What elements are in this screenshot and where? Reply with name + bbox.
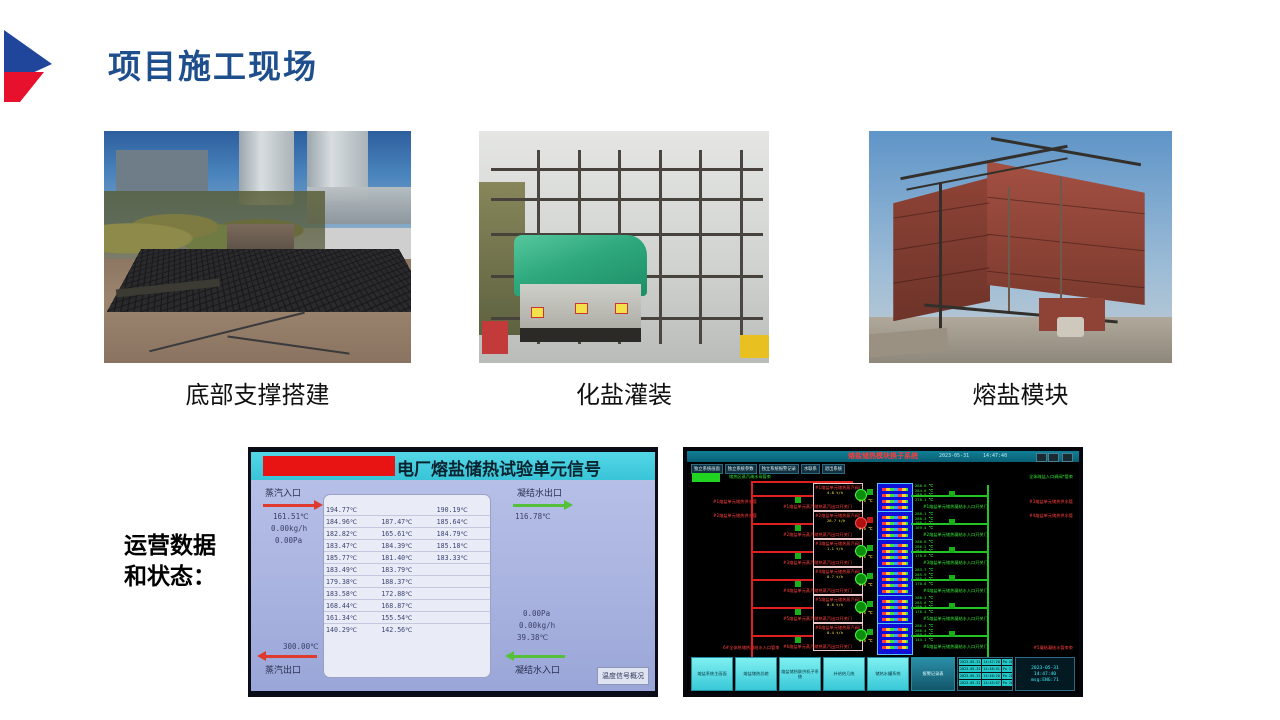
module-outlet-label: #5熔盐单元储热凝结水入口开关门 (923, 616, 988, 622)
module-valve-label: #6熔盐单元蒸汽储热蒸汽出口开关门 (783, 644, 852, 650)
temperature-cell: 179.38℃ (324, 576, 379, 588)
module-inlet-label: #3熔盐单元储热蒸汽阀门 (815, 541, 863, 547)
temperature-cell (435, 564, 490, 576)
alarm-cell: 2023-05-31 (959, 680, 982, 687)
condensate-valve-icon[interactable] (949, 631, 955, 637)
condensate-branch-line (911, 579, 987, 581)
scada-screen: 熔盐储热模块换子系统 2023-05-31 14:47:40 独立系统画面独立系… (687, 451, 1079, 693)
alarm-record-button[interactable]: 报警记录表 (911, 657, 955, 691)
module-inlet-label: #5熔盐单元储热蒸汽阀门 (815, 597, 863, 603)
module-outlet-label: #3熔盐单元储热凝结水入口开关门 (923, 560, 988, 566)
condensate-outlet-arrow (513, 504, 565, 507)
clock-time: 14:47:40 (1034, 672, 1056, 677)
scaffold-rail-1 (491, 168, 764, 171)
page-title: 项目施工现场 (108, 40, 318, 88)
hmi-signal-panel: 电厂熔盐储热试验单元信号 蒸汽入口 161.51℃ 0.00kg/h 0.00P… (248, 447, 658, 697)
module-valve-label: #3熔盐单元蒸汽储热蒸汽出口开关门 (783, 560, 852, 566)
temperature-cell: 185.18℃ (435, 540, 490, 552)
alarm-row[interactable]: 2023-05-3114:46:41Pa 1 Pt 1HL2940CL001关联… (959, 666, 1014, 673)
photo-salt-melting-filling (479, 131, 769, 363)
right-note-1: #3熔盐单元储热供水管 (1029, 499, 1073, 505)
rebar-mesh (106, 249, 411, 312)
module-valve-label: #1熔盐单元蒸汽储热蒸汽出口开关门 (783, 504, 852, 510)
toolbar-button-3[interactable]: 补给热几统 (823, 657, 865, 691)
module-frame (813, 539, 863, 567)
temperature-cell: 184.79℃ (435, 528, 490, 540)
module-frame (813, 483, 863, 511)
steam-header-main (751, 481, 753, 657)
warning-sign-1 (531, 307, 544, 318)
scaffold-post-5 (699, 150, 702, 345)
temperature-cell: 190.19℃ (435, 504, 490, 516)
table-row: 184.96℃187.47℃185.64℃ (324, 516, 490, 528)
temperature-cell (435, 624, 490, 636)
condensate-outlet-temp: 116.78℃ (515, 512, 551, 521)
clock-date: 2023-05-31 (1031, 666, 1059, 671)
module-temps: 283.7 ℃285.9 ℃285.4 ℃170.0 ℃ (915, 568, 933, 587)
module-frame (813, 511, 863, 539)
module-temps: 288.0 ℃286.2 ℃285.9 ℃178.6 ℃ (915, 540, 933, 559)
heat-exchanger-icon (877, 539, 913, 571)
module-valve-icon[interactable] (867, 517, 873, 523)
module-valve-label: #5熔盐单元蒸汽储热蒸汽出口开关门 (783, 616, 852, 622)
temperature-cell (435, 576, 490, 588)
module-valve-icon[interactable] (867, 601, 873, 607)
toolbar-button-group[interactable]: 熔盐系统主画面熔盐储热总貌熔盐储热联供机子系统补给热几统储热水罐系统 (691, 657, 909, 689)
alarm-cell: 2023-05-31 (959, 666, 982, 673)
alarm-log-grid: 2023-05-3114:47:20Pa 2#1 Pt 1HL2940CL002… (958, 658, 1013, 687)
table-row: 183.49℃183.79℃ (324, 564, 490, 576)
minimize-icon[interactable] (1036, 453, 1047, 462)
module-outlet-valve-icon[interactable] (795, 609, 801, 615)
scada-header-date: 2023-05-31 (939, 453, 969, 459)
heat-exchanger-icon (877, 623, 913, 655)
module-inlet-label: #6熔盐单元储热蒸汽阀门 (815, 625, 863, 631)
alarm-cell: Pa 1 Pt 1 (1001, 666, 1013, 673)
brand-logo (0, 28, 56, 104)
menu-item-2[interactable]: 独立系统报警记录 (759, 464, 799, 474)
steam-branch-line (751, 551, 813, 553)
temperature-cell: 161.34℃ (324, 612, 379, 624)
temperature-cell: 183.49℃ (324, 564, 379, 576)
steam-inlet-arrow (263, 504, 315, 507)
temperature-cell: 184.39℃ (379, 540, 434, 552)
condensate-branch-line (911, 607, 987, 609)
toolbar-button-0[interactable]: 熔盐系统主画面 (691, 657, 733, 691)
module-pump-icon[interactable] (855, 629, 867, 641)
module-outlet-valve-icon[interactable] (795, 581, 801, 587)
steam-branch-line (751, 635, 813, 637)
condensate-valve-icon[interactable] (949, 547, 955, 553)
alarm-cell: 14:47:20 (982, 659, 1001, 666)
vertical-pipe-1 (939, 182, 942, 335)
module-outlet-label: #6熔盐单元储热凝结水入口开关门 (923, 644, 988, 650)
module-flow: 1.1 t/h (827, 547, 843, 552)
alarm-cell: 14:45:07 (982, 680, 1001, 687)
heat-exchanger-icon (877, 595, 913, 627)
table-row: 179.38℃188.37℃ (324, 576, 490, 588)
condensate-header-main (987, 485, 989, 657)
steam-branch-line (751, 607, 813, 609)
menu-item-4[interactable]: 退出系统 (822, 464, 845, 474)
table-row: 183.47℃184.39℃185.18℃ (324, 540, 490, 552)
temperature-cell: 185.77℃ (324, 552, 379, 564)
scaffold-post-4 (659, 150, 662, 345)
scaffold-post-6 (740, 150, 743, 345)
maximize-icon[interactable] (1048, 453, 1059, 462)
temperature-cell: 183.79℃ (379, 564, 434, 576)
module-temp: 0.0 ℃ (859, 583, 872, 588)
condensate-inlet-pressure: 0.00Pa (523, 609, 550, 618)
logo-red-triangle (4, 72, 44, 102)
operating-data-label-line2: 和状态： (100, 561, 240, 592)
close-icon[interactable] (1062, 453, 1073, 462)
module-flow: 0.0 t/h (827, 603, 843, 608)
alarm-cell: Pa 2#1 Pt 1 (1001, 680, 1013, 687)
alarm-log-body: 2023-05-3114:47:20Pa 2#1 Pt 1HL2940CL002… (959, 659, 1014, 687)
module-temps: 286.4 ℃286.4 ℃280.4 ℃144.1 ℃ (915, 624, 933, 643)
module-temps: 288.0 ℃284.0 ℃288.5 ℃278.1 ℃ (915, 484, 933, 503)
alarm-row[interactable]: 2023-05-3114:46:20Pa 2#1 Pt 1HL2940CL005… (959, 673, 1014, 680)
alarm-cell: Pa 2#1 Pt 1 (1001, 673, 1013, 680)
steam-inlet-flow: 0.00kg/h (271, 524, 307, 533)
alarm-cell: 14:46:41 (982, 666, 1001, 673)
condensate-branch-line (911, 551, 987, 553)
module-pump-icon[interactable] (855, 601, 867, 613)
temperature-cell (435, 588, 490, 600)
scada-toolbar[interactable]: 熔盐系统主画面熔盐储热总貌熔盐储热联供机子系统补给热几统储热水罐系统 报警记录表… (691, 657, 1075, 689)
condensate-branch-line (911, 523, 987, 525)
module-inlet-label: #1熔盐单元储热蒸汽阀门 (815, 485, 863, 491)
warning-sign-2 (575, 303, 588, 314)
hmi-title-bar: 电厂熔盐储热试验单元信号 (251, 452, 655, 480)
temperature-cell: 181.40℃ (379, 552, 434, 564)
steam-inlet-label: 蒸汽入口 (265, 486, 301, 499)
condensate-valve-icon[interactable] (949, 519, 955, 525)
photo-construction-foundation (104, 131, 411, 363)
temperature-cell: 182.82℃ (324, 528, 379, 540)
module-inlet-label: #2熔盐单元储热蒸汽阀门 (815, 513, 863, 519)
photo-molten-salt-module (869, 131, 1172, 363)
warning-sign-3 (615, 303, 628, 314)
clock-panel: 2023-05-31 14:47:40 msg:ENG:71 (1015, 657, 1075, 691)
pump-unit (1057, 317, 1084, 338)
hmi-title: 电厂熔盐储热试验单元信号 (397, 455, 601, 480)
temperature-cell: 183.47℃ (324, 540, 379, 552)
temperature-cell: 184.96℃ (324, 516, 379, 528)
heat-exchanger-icon (877, 567, 913, 599)
scada-module-panel: 熔盐储热模块换子系统 2023-05-31 14:47:40 独立系统画面独立系… (683, 447, 1083, 697)
table-row: 168.44℃168.87℃ (324, 600, 490, 612)
steam-outlet-label: 蒸汽出口 (265, 663, 301, 676)
plant-building (116, 150, 208, 192)
operating-data-label-line1: 运营数据 (100, 530, 240, 561)
temperature-cell: 168.44℃ (324, 600, 379, 612)
toolbar-button-2[interactable]: 熔盐储热联供机子系统 (779, 657, 821, 691)
module-pump-icon[interactable] (855, 573, 867, 585)
condensate-inlet-arrow (513, 655, 565, 658)
dark-cavity (520, 328, 642, 342)
condensate-valve-icon[interactable] (949, 491, 955, 497)
module-valve-icon[interactable] (867, 573, 873, 579)
module-valve-icon[interactable] (867, 629, 873, 635)
module-flow: 4.8 t/h (827, 491, 843, 496)
condensate-valve-icon[interactable] (949, 575, 955, 581)
bottom-right-note: #5凝结凝结水管束束 (1033, 645, 1073, 651)
table-row: 183.58℃172.88℃ (324, 588, 490, 600)
temperature-overview-button[interactable]: 温度信号概况 (597, 667, 649, 685)
temperature-cell (435, 600, 490, 612)
condensate-valve-icon[interactable] (949, 603, 955, 609)
module-temp: 0.0 ℃ (859, 639, 872, 644)
alarm-row[interactable]: 2023-05-3114:47:20Pa 2#1 Pt 1HL2940CL002… (959, 659, 1014, 666)
module-temps: 288.1 ℃288.3 ℃166.1 ℃169.4 ℃ (915, 512, 933, 531)
steam-outlet-arrow (265, 655, 317, 658)
module-temp: 0.0 ℃ (859, 611, 872, 616)
triangle-logo-svg (0, 28, 56, 104)
module-pump-icon[interactable] (855, 517, 867, 529)
temperature-cell (435, 612, 490, 624)
alarm-cell: 2023-05-31 (959, 659, 982, 666)
condensate-inlet-label: 凝结水入口 (515, 663, 560, 676)
condensate-inlet-temp: 39.38℃ (517, 633, 548, 642)
temperature-cell: 155.54℃ (379, 612, 434, 624)
alarm-cell: 2023-05-31 (959, 673, 982, 680)
module-outlet-valve-icon[interactable] (795, 497, 801, 503)
module-temp: 0.0 ℃ (859, 527, 872, 532)
heat-exchanger-icon (877, 483, 913, 515)
temperature-cell: 172.88℃ (379, 588, 434, 600)
table-row: 182.82℃165.61℃184.79℃ (324, 528, 490, 540)
hmi-screen: 电厂熔盐储热试验单元信号 蒸汽入口 161.51℃ 0.00kg/h 0.00P… (251, 452, 655, 691)
yellow-equipment (740, 335, 769, 358)
temperature-table-grid: 194.77℃190.19℃184.96℃187.47℃185.64℃182.8… (324, 504, 490, 635)
module-outlet-valve-icon[interactable] (795, 553, 801, 559)
photo-caption-3: 熔盐模块 (869, 375, 1172, 410)
table-row: 140.29℃142.56℃ (324, 624, 490, 636)
scaffold-rail-2 (491, 198, 764, 201)
temperature-cell: 140.29℃ (324, 624, 379, 636)
temperature-cell: 168.87℃ (379, 600, 434, 612)
scada-title: 熔盐储热模块换子系统 (848, 451, 918, 461)
module-flow: 0.4 t/h (827, 631, 843, 636)
module-temp: 0.0 ℃ (859, 499, 872, 504)
module-temps: 288.3 ℃285.6 ℃286.3 ℃178.4 ℃ (915, 596, 933, 615)
temperature-cell: 183.58℃ (324, 588, 379, 600)
worker-region (482, 321, 508, 353)
menu-item-3[interactable]: 水联系 (801, 464, 820, 474)
condensate-outlet-label: 凝结水出口 (517, 486, 562, 499)
steam-inlet-pressure: 0.00Pa (275, 536, 302, 545)
module-frame (813, 595, 863, 623)
clock-msg: msg:ENG:71 (1031, 678, 1059, 683)
menu-item-1[interactable]: 独立系统参数 (725, 464, 757, 474)
operating-data-label: 运营数据 和状态： (100, 530, 240, 592)
temperature-table-body: 194.77℃190.19℃184.96℃187.47℃185.64℃182.8… (324, 504, 490, 635)
condensate-branch-line (911, 495, 987, 497)
condensate-inlet-flow: 0.00kg/h (519, 621, 555, 630)
temperature-cell: 187.47℃ (379, 516, 434, 528)
toolbar-button-4[interactable]: 储热水罐系统 (867, 657, 909, 691)
alarm-row[interactable]: 2023-05-3114:45:07Pa 2#1 Pt 1HL2940CL009… (959, 680, 1014, 687)
vertical-pipe-2 (1008, 187, 1010, 312)
module-pump-icon[interactable] (855, 489, 867, 501)
module-pump-icon[interactable] (855, 545, 867, 557)
steam-header-top (751, 481, 853, 483)
module-outlet-valve-icon[interactable] (795, 525, 801, 531)
temperature-table: 194.77℃190.19℃184.96℃187.47℃185.64℃182.8… (323, 494, 491, 678)
alarm-cell: Pa 2#1 Pt 1 (1001, 659, 1013, 666)
steam-branch-line (751, 579, 813, 581)
temperature-cell: 185.64℃ (435, 516, 490, 528)
module-outlet-label: #2熔盐单元储热凝结水入口开关门 (923, 532, 988, 538)
right-note-2: #4熔盐单元储热供水管 (1029, 513, 1073, 519)
temperature-cell: 165.61℃ (379, 528, 434, 540)
module-valve-icon[interactable] (867, 545, 873, 551)
scada-header-time: 14:47:40 (983, 453, 1007, 459)
redaction-block (263, 456, 395, 476)
steam-outlet-temp: 300.00℃ (283, 642, 319, 651)
temperature-cell: 183.33℃ (435, 552, 490, 564)
steam-branch-line (751, 495, 813, 497)
module-outlet-label: #4熔盐单元储热凝结水入口开关门 (923, 588, 988, 594)
module-temp: 0.0 ℃ (859, 555, 872, 560)
table-row: 185.77℃181.40℃183.33℃ (324, 552, 490, 564)
temperature-cell: 142.56℃ (379, 624, 434, 636)
steam-inlet-temp: 161.51℃ (273, 512, 309, 521)
module-valve-icon[interactable] (867, 489, 873, 495)
toolbar-button-1[interactable]: 熔盐储热总貌 (735, 657, 777, 691)
module-flow: 26.7 t/h (827, 519, 845, 524)
module-outlet-label: #1熔盐单元储热凝结水入口开关门 (923, 504, 988, 510)
alarm-log-table[interactable]: 2023-05-3114:47:20Pa 2#1 Pt 1HL2940CL002… (957, 657, 1013, 691)
module-valve-label: #4熔盐单元蒸汽储热蒸汽出口开关门 (783, 588, 852, 594)
header-left-label: 储热区蒸汽疏水母管束 (729, 474, 771, 480)
photo-caption-1: 底部支撑搭建 (104, 375, 411, 410)
vertical-pipe-3 (1060, 177, 1062, 298)
alarm-cell: 14:46:20 (982, 673, 1001, 680)
module-outlet-valve-icon[interactable] (795, 637, 801, 643)
module-frame (813, 623, 863, 651)
table-row: 161.34℃155.54℃ (324, 612, 490, 624)
temperature-cell: 188.37℃ (379, 576, 434, 588)
module-flow: 0.7 t/h (827, 575, 843, 580)
temperature-cell (379, 504, 434, 516)
photo-caption-2: 化盐灌装 (479, 375, 769, 410)
table-row: 194.77℃190.19℃ (324, 504, 490, 516)
module-frame (813, 567, 863, 595)
condensate-branch-line (911, 635, 987, 637)
module-inlet-label: #4熔盐单元储热蒸汽阀门 (815, 569, 863, 575)
status-indicator-green (692, 473, 720, 482)
heat-exchanger-icon (877, 511, 913, 543)
module-valve-label: #2熔盐单元蒸汽储热蒸汽出口开关门 (783, 532, 852, 538)
header-right-label: 全体疏盐入口调阀*管束 (1029, 474, 1073, 480)
steam-branch-line (751, 523, 813, 525)
temperature-cell: 194.77℃ (324, 504, 379, 516)
